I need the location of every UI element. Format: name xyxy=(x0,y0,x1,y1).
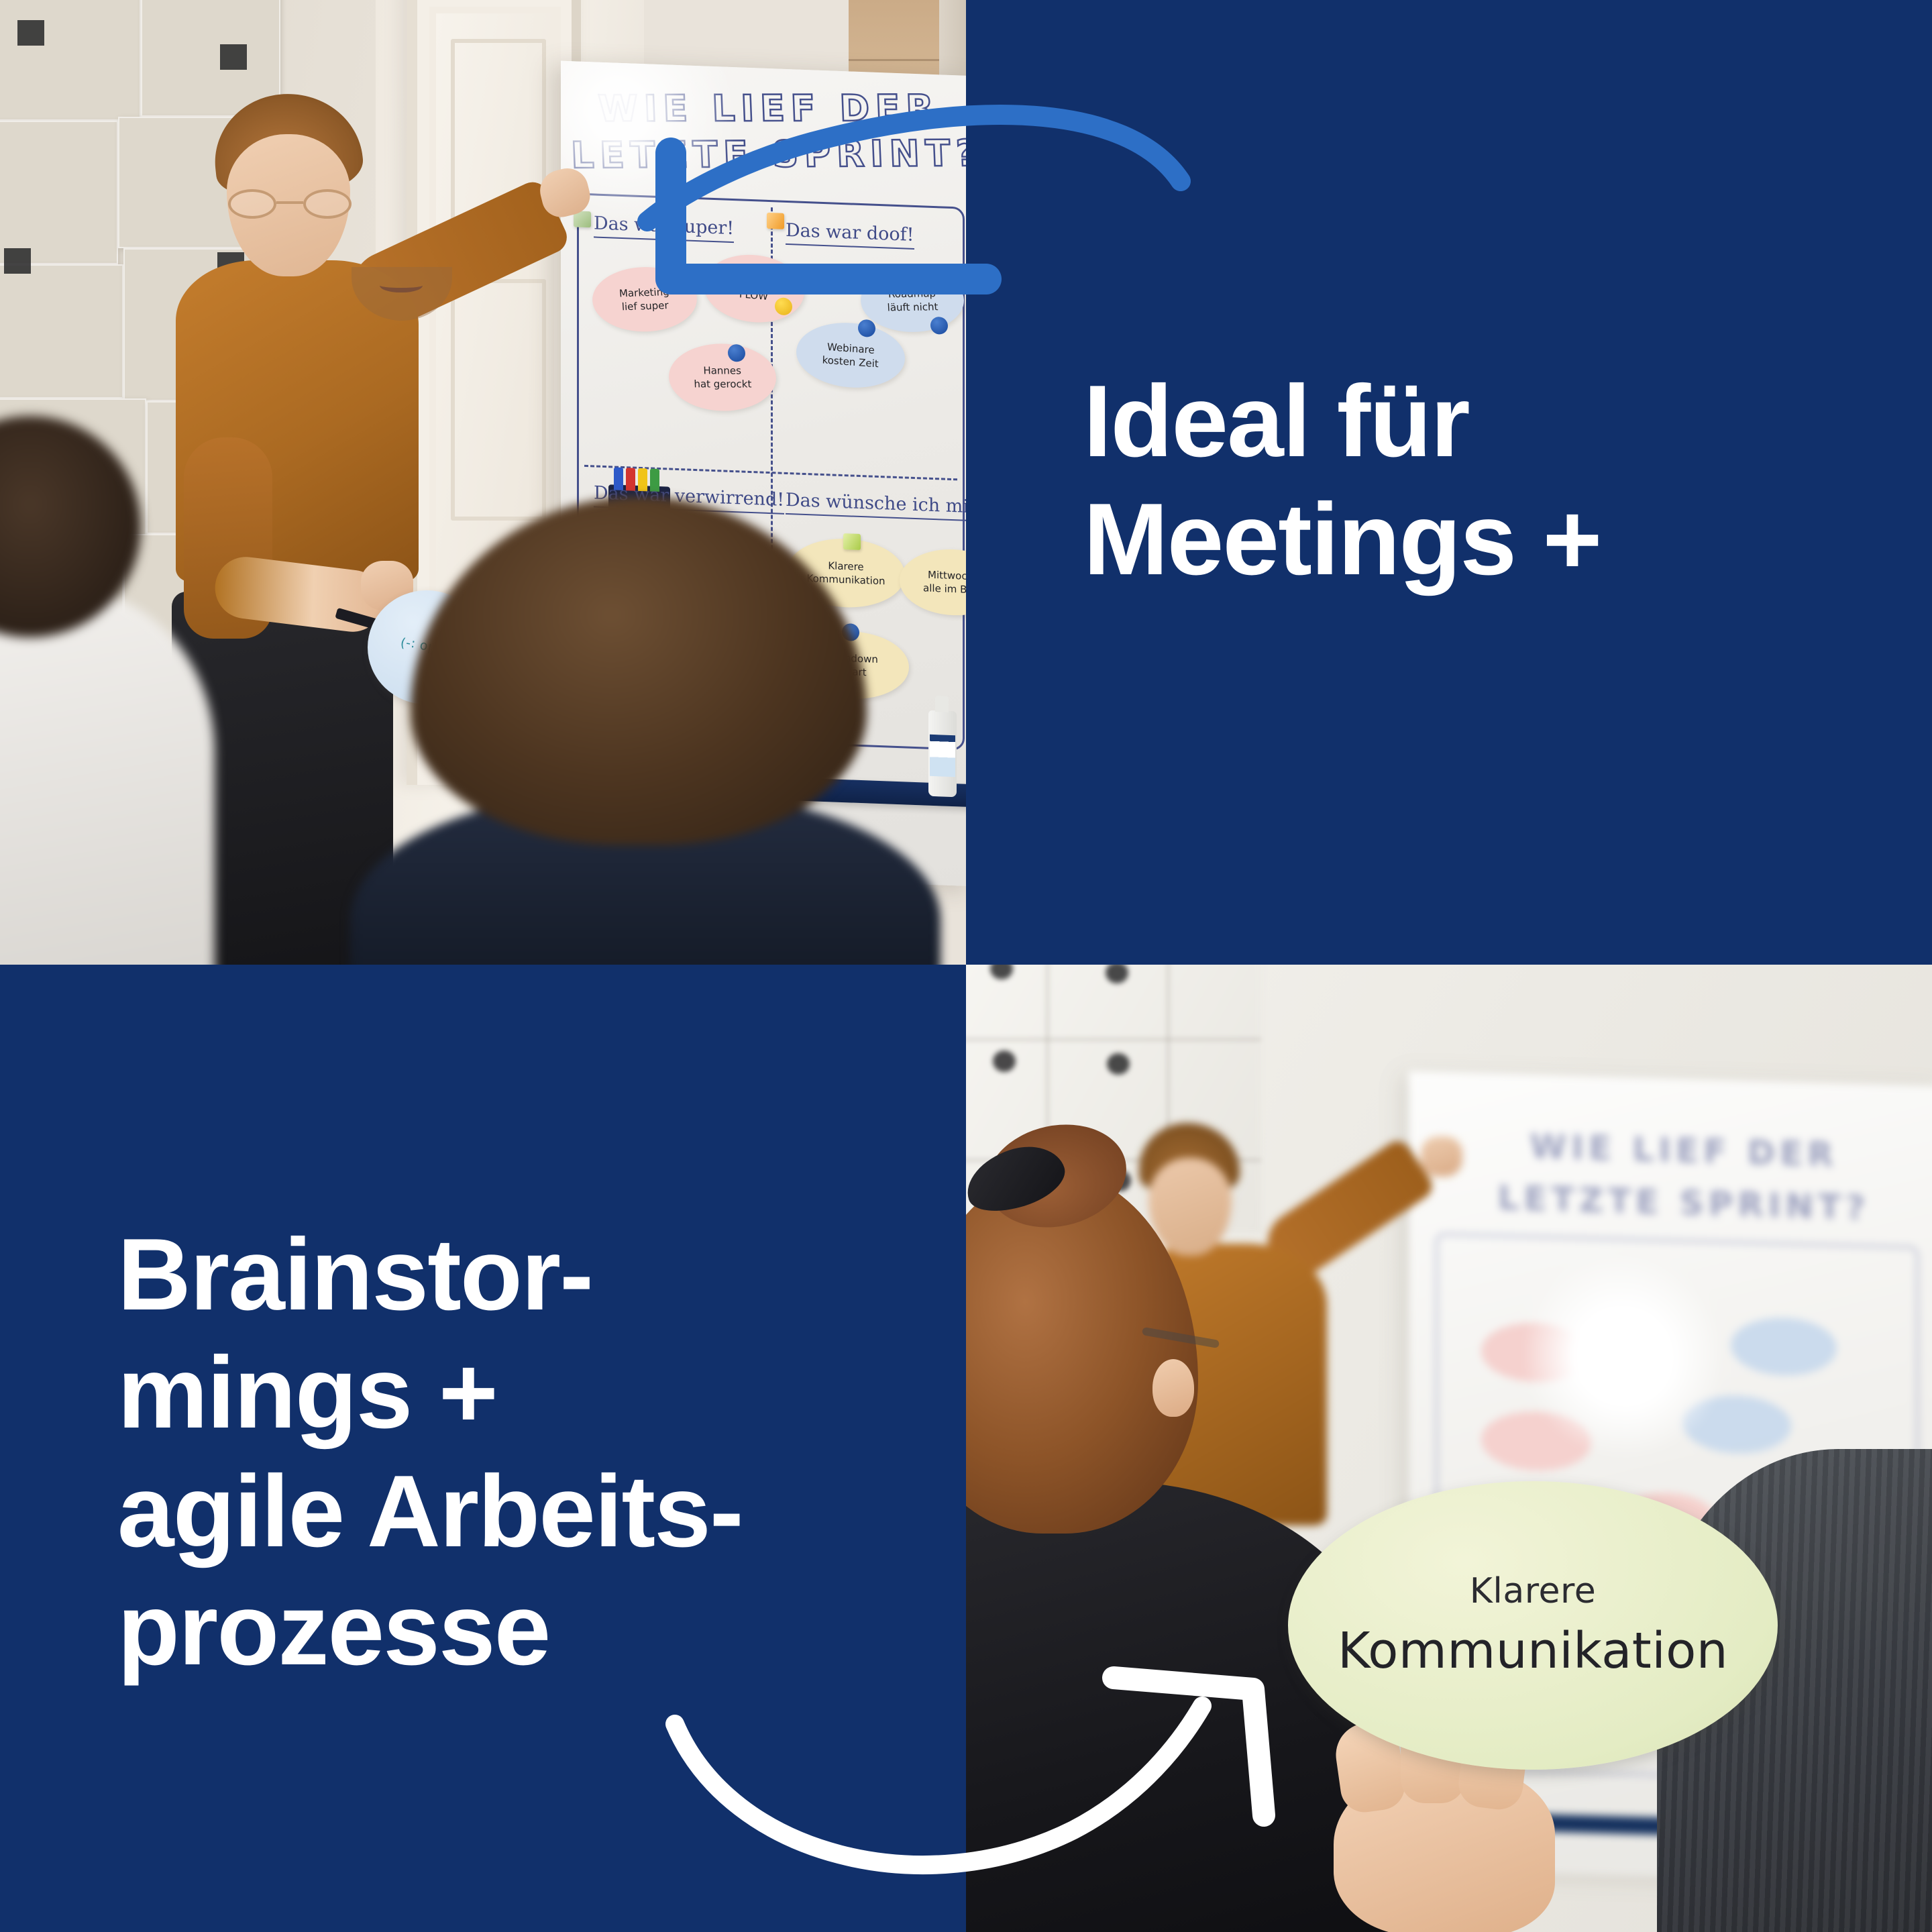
sticky-note-text: Webinare kosten Zeit xyxy=(822,339,879,370)
panel-dot xyxy=(993,1051,1016,1072)
magnet-yellow-smiley xyxy=(680,266,697,284)
sticky-note-text: Content FLOW xyxy=(733,273,775,304)
sticky-note-text: Mittwochs alle im Büro xyxy=(923,568,966,597)
panel-dot xyxy=(220,44,247,70)
sticky-note-text: Roadmap läuft nicht xyxy=(886,286,938,315)
sticky-oval-note: Roadmap läuft nicht xyxy=(859,268,966,333)
quadrant-title: Das war super! xyxy=(594,213,734,243)
photo-panel-bottom-right: WIE LIEF DER LETZTE SPRINT? xyxy=(966,965,1932,1932)
magnet-blue xyxy=(930,317,948,335)
magnet-square-orange xyxy=(767,213,784,229)
whiteboard-cleaner-spray xyxy=(928,710,957,798)
whiteboard-headline-line-2: LETZTE SPRINT? xyxy=(1449,1177,1919,1230)
sticky-note-text: Hannes hat gerockt xyxy=(693,364,751,391)
whiteboard-headline-line-2: LETZTE SPRINT? xyxy=(568,132,966,176)
sticky-oval-note: Hannes hat gerockt xyxy=(667,343,777,411)
sticky-oval-note: Webinare kosten Zeit xyxy=(795,319,906,391)
magnet-blue xyxy=(858,319,875,337)
text-panel-bottom-left: Brainstor- mings + agile Arbeits- prozes… xyxy=(0,965,966,1932)
panel-dot xyxy=(1106,965,1128,983)
presenter-smile xyxy=(380,278,423,292)
photo-presenter-at-whiteboard: WIE LIEF DER LETZTE SPRINT? Das war supe… xyxy=(0,0,966,965)
sticky-oval-note: Mittwochs alle im Büro xyxy=(900,547,966,617)
foreground-attendee-left xyxy=(0,416,228,965)
held-card-line-2: Kommunikation xyxy=(1338,1622,1728,1680)
headline-ideal-fuer-meetings: Ideal für Meetings + xyxy=(1083,362,1601,599)
magnet-blue xyxy=(728,344,745,362)
quadrant-das-war-doof: Das war doof! Roadmap läuft nicht Webina… xyxy=(771,202,963,478)
held-card-line-1: Klarere xyxy=(1470,1571,1597,1611)
glasses-icon xyxy=(228,189,352,219)
photo-panel-top-left: WIE LIEF DER LETZTE SPRINT? Das war supe… xyxy=(0,0,966,965)
photo-woman-holding-card: WIE LIEF DER LETZTE SPRINT? xyxy=(966,965,1932,1932)
panel-dot xyxy=(990,965,1013,979)
panel-dot xyxy=(1107,1053,1130,1075)
foreground-attendee-center xyxy=(411,496,880,965)
whiteboard-headline-line-1: WIE LIEF DER xyxy=(1449,1125,1919,1177)
quadrant-das-war-super: Das war super! Marketing lief super Cont… xyxy=(579,195,771,472)
panel-dot xyxy=(17,20,44,46)
text-panel-top-right: Ideal für Meetings + xyxy=(966,0,1932,965)
quadrant-title: Das war doof! xyxy=(786,220,914,250)
social-media-collage: WIE LIEF DER LETZTE SPRINT? Das war supe… xyxy=(0,0,1932,1932)
whiteboard-headline-line-1: WIE LIEF DER xyxy=(560,87,966,129)
sticky-note-text: Marketing lief super xyxy=(619,285,670,314)
headline-brainstormings-agile-arbeitsprozesse: Brainstor- mings + agile Arbeits- prozes… xyxy=(117,1216,743,1688)
held-oval-card: Klarere Kommunikation xyxy=(1288,1481,1778,1770)
panel-dot xyxy=(4,248,31,274)
